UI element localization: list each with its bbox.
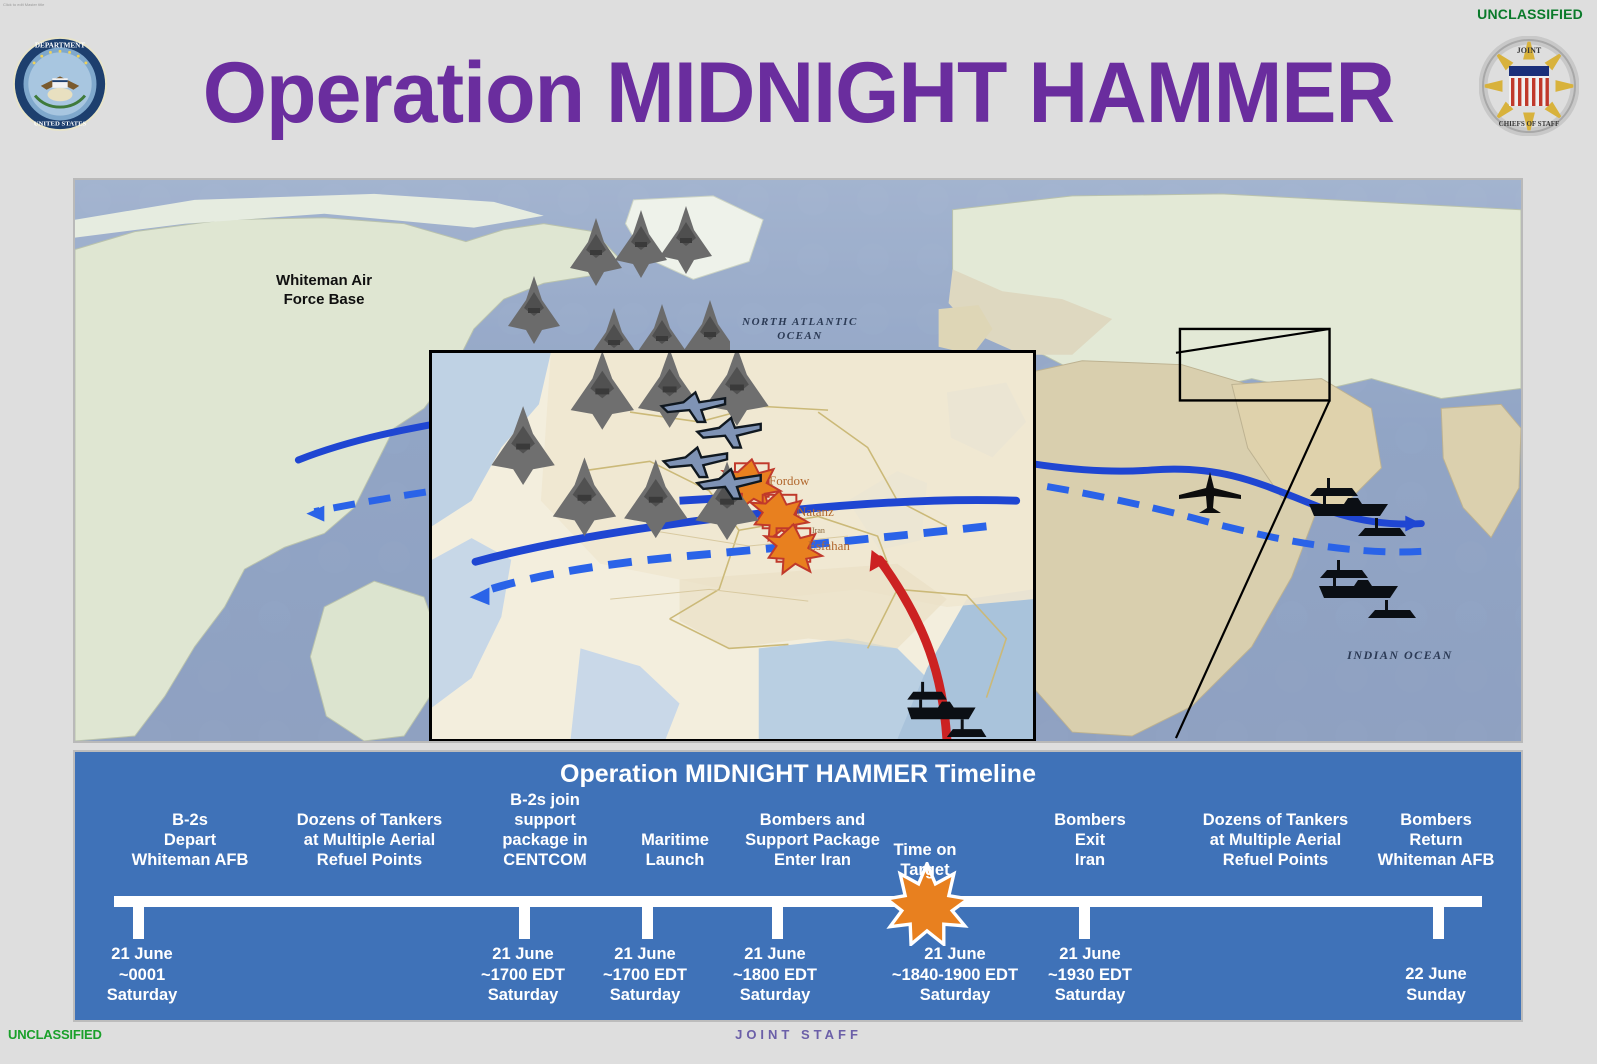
naval-task-group-icon xyxy=(1317,552,1447,672)
timeline-tick xyxy=(642,907,653,939)
timeline-tick xyxy=(133,907,144,939)
aircraft-icon xyxy=(1177,468,1243,514)
timeline-tick xyxy=(519,907,530,939)
footer-organization: JOINT STAFF xyxy=(0,1027,1597,1042)
timeline-tick xyxy=(772,907,783,939)
page-title: Operation MIDNIGHT HAMMER xyxy=(32,44,1565,143)
slide-root: Click to edit Master title UNCLASSIFIED … xyxy=(0,0,1597,1064)
timeline-event-label: Dozens of Tankers at Multiple Aerial Ref… xyxy=(257,810,482,870)
timeline-event-label: Bombers Exit Iran xyxy=(1015,810,1165,870)
operation-map: NORTH ATLANTIC OCEAN INDIAN OCEAN Whitem… xyxy=(73,178,1523,743)
timeline-event-date: 21 June ~1700 EDT Saturday xyxy=(575,944,715,1006)
timeline-title: Operation MIDNIGHT HAMMER Timeline xyxy=(75,760,1521,789)
operation-timeline: Operation MIDNIGHT HAMMER Timeline B-2s … xyxy=(73,750,1523,1022)
timeline-tick xyxy=(1433,907,1444,939)
timeline-axis xyxy=(114,896,1482,907)
timeline-event-date: 22 June Sunday xyxy=(1347,964,1525,1005)
timeline-event-label: Time on Target xyxy=(855,840,995,880)
timeline-tick xyxy=(1079,907,1090,939)
inset-map-graphic xyxy=(432,353,1033,739)
timeline-event-date: 21 June ~1800 EDT Saturday xyxy=(705,944,845,1006)
timeline-event-date: 21 June ~0001 Saturday xyxy=(47,944,237,1006)
whiteman-afb-label: Whiteman Air Force Base xyxy=(259,272,389,310)
timeline-event-label: B-2s join support package in CENTCOM xyxy=(465,790,625,871)
master-title-note: Click to edit Master title xyxy=(3,2,44,8)
timeline-event-date: 21 June ~1930 EDT Saturday xyxy=(1015,944,1165,1006)
middle-east-inset: Fordow Natanz Iran Esfahan xyxy=(429,350,1036,742)
timeline-event-label: Bombers Return Whiteman AFB xyxy=(1347,810,1525,870)
classification-banner-top: UNCLASSIFIED xyxy=(1477,6,1583,22)
